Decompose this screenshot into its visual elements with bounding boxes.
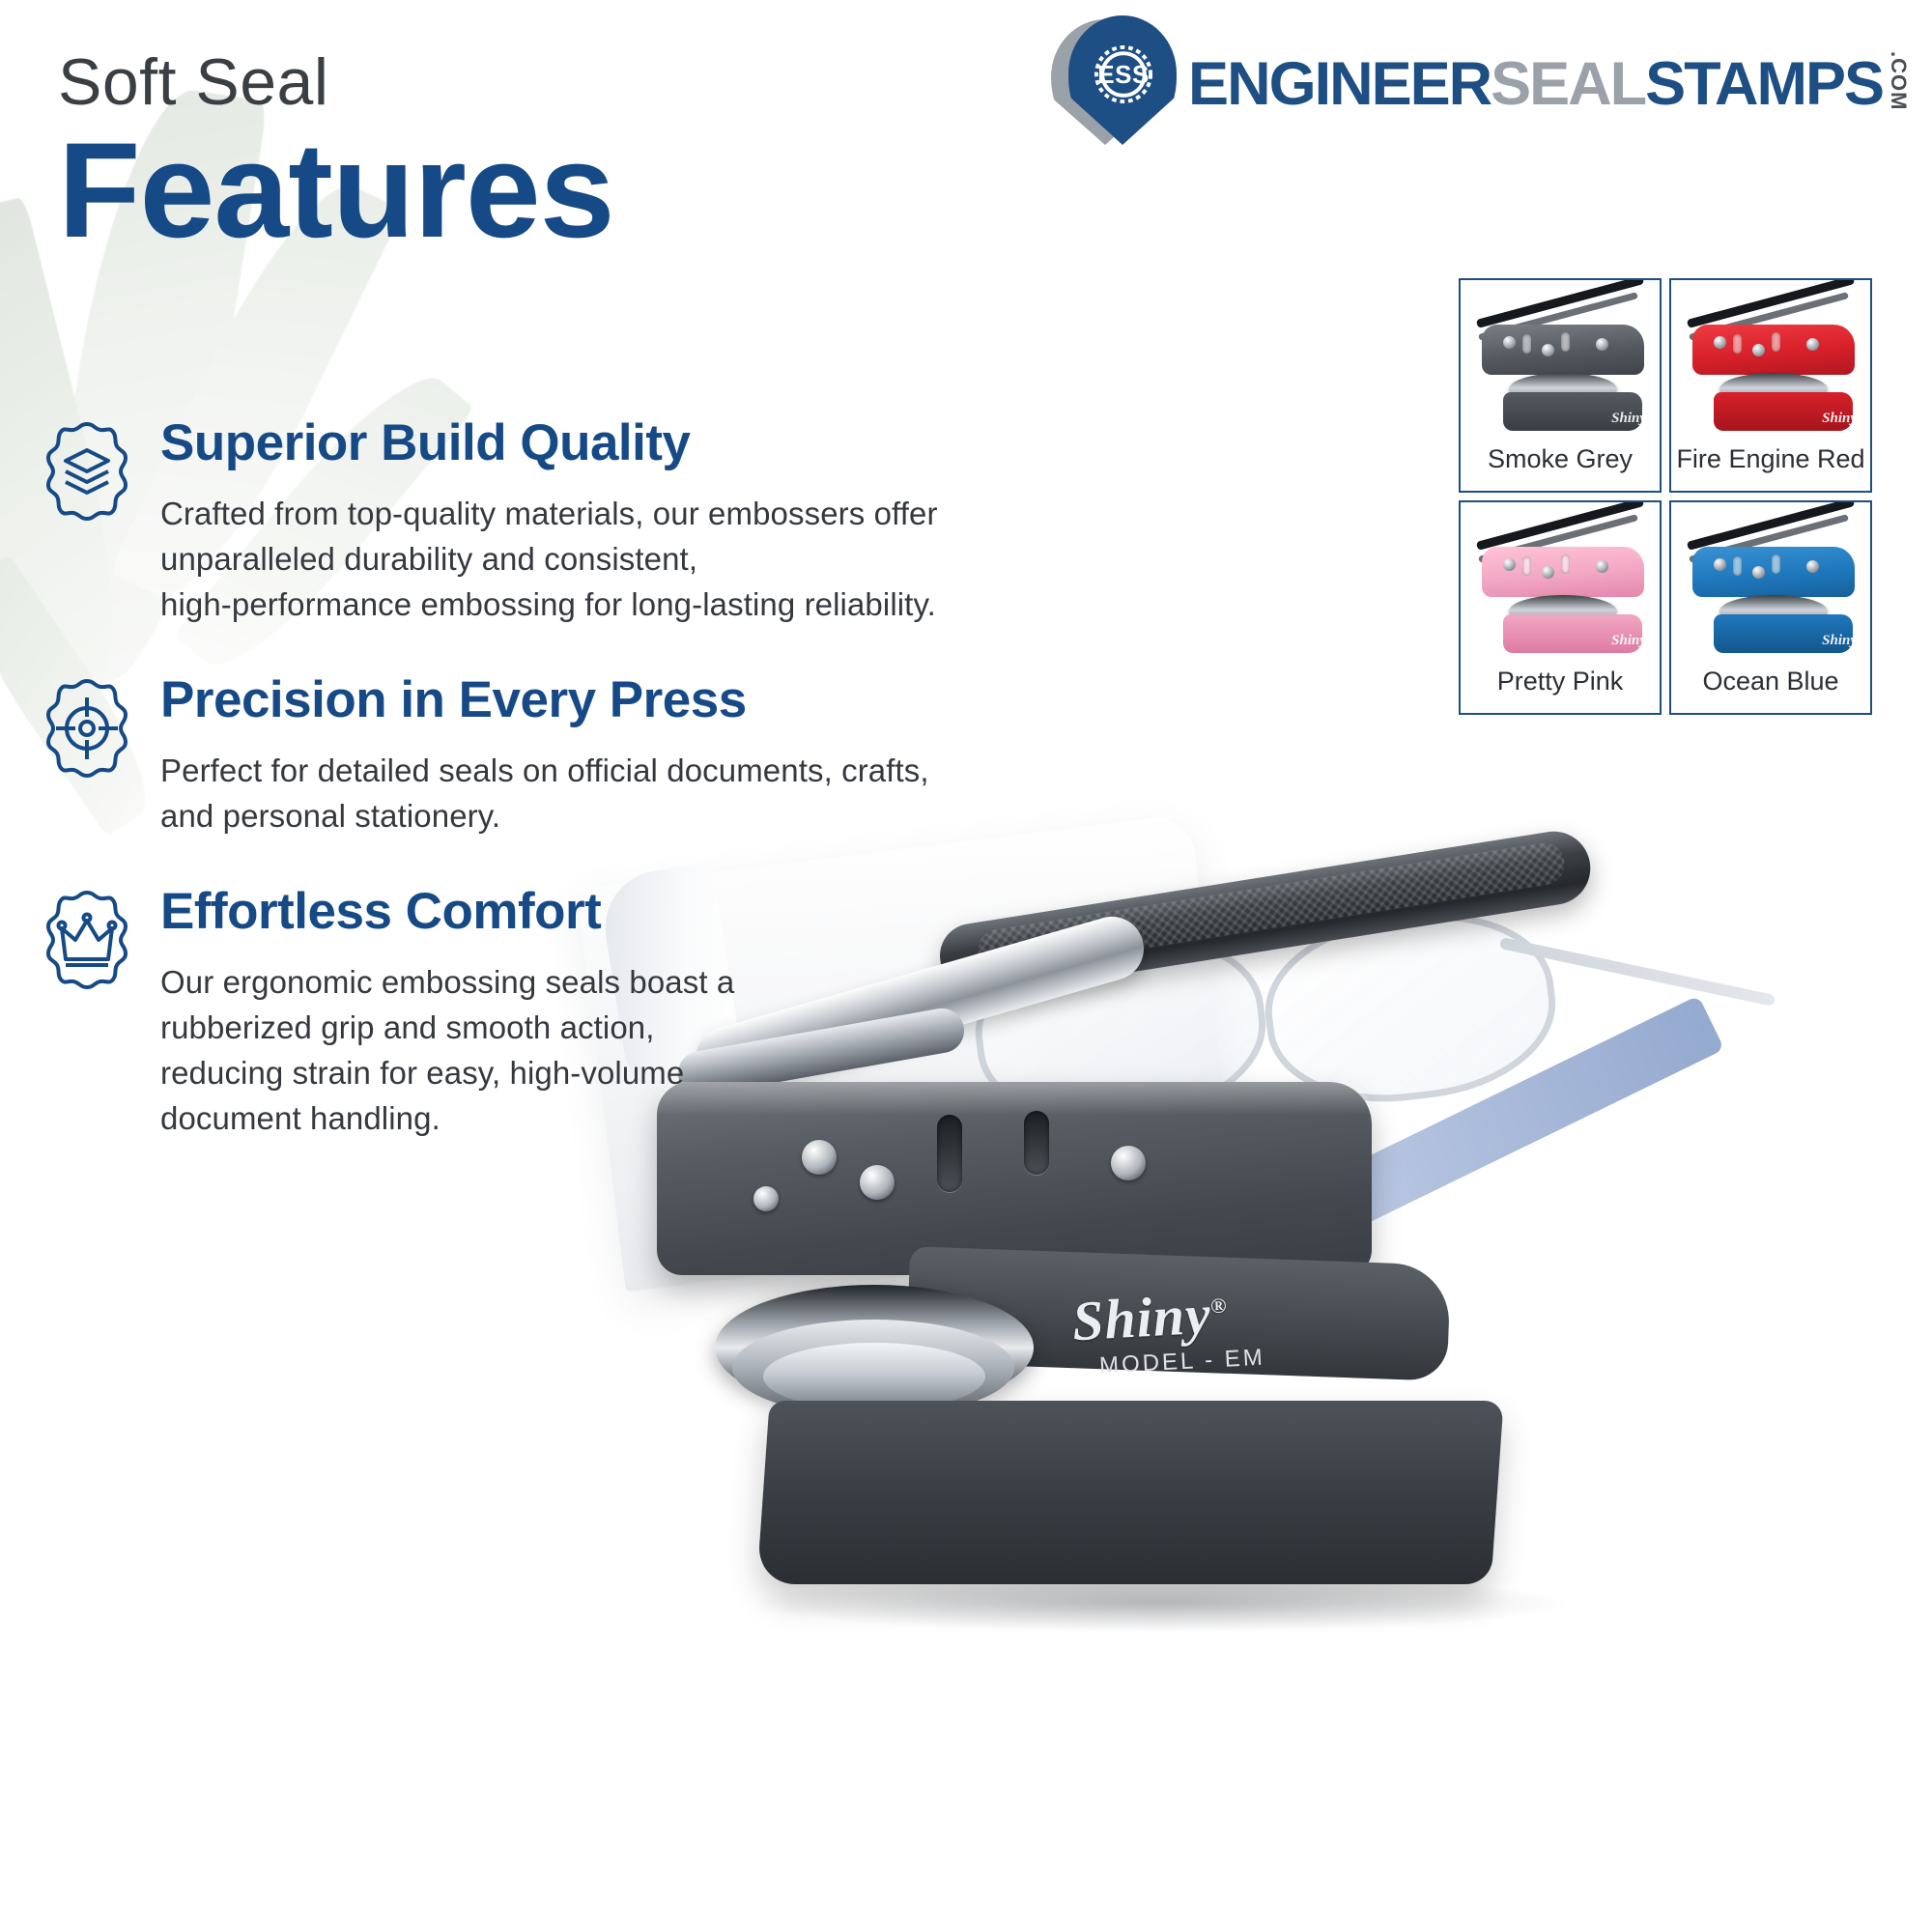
target-badge-icon xyxy=(39,672,155,783)
title-block: Soft Seal Features xyxy=(58,48,614,258)
feature-body: Precision in Every Press Perfect for det… xyxy=(155,672,1014,839)
logo-tld: .COM xyxy=(1886,51,1911,110)
feature-item: Superior Build Quality Crafted from top-… xyxy=(39,415,1014,628)
logo-word-seal: SEAL xyxy=(1491,57,1645,113)
feature-description: Our ergonomic embossing seals boast a ru… xyxy=(160,960,1014,1141)
product-brand-label: Shiny® xyxy=(1070,1281,1229,1353)
feature-title: Precision in Every Press xyxy=(160,672,1014,727)
brand-logo[interactable]: ESS ENGINEER SEAL STAMPS .COM xyxy=(1051,15,1911,149)
logo-mark-text: ESS xyxy=(1086,37,1161,112)
feature-list: Superior Build Quality Crafted from top-… xyxy=(39,415,1014,1185)
swatch-product-image: Shiny xyxy=(1671,502,1870,659)
crown-badge-icon xyxy=(39,884,155,995)
feature-item: Effortless Comfort Our ergonomic embossi… xyxy=(39,884,1014,1142)
logo-wordmark: ENGINEER SEAL STAMPS .COM xyxy=(1188,51,1911,112)
swatch-pretty-pink[interactable]: Shiny Pretty Pink xyxy=(1459,500,1662,715)
swatch-product-image: Shiny xyxy=(1461,502,1660,659)
logo-word-engineer: ENGINEER xyxy=(1188,57,1491,113)
swatch-ocean-blue[interactable]: Shiny Ocean Blue xyxy=(1669,500,1872,715)
feature-title: Superior Build Quality xyxy=(160,415,1014,470)
product-base xyxy=(756,1401,1503,1584)
swatch-label: Pretty Pink xyxy=(1461,659,1660,696)
feature-body: Superior Build Quality Crafted from top-… xyxy=(155,415,1014,628)
swatch-label: Fire Engine Red xyxy=(1671,437,1870,474)
layers-badge-icon xyxy=(39,415,155,526)
logo-word-stamps: STAMPS xyxy=(1645,57,1883,113)
feature-description: Crafted from top-quality materials, our … xyxy=(160,492,1014,628)
swatch-product-image: Shiny xyxy=(1671,280,1870,437)
feature-item: Precision in Every Press Perfect for det… xyxy=(39,672,1014,839)
page-title: Features xyxy=(58,123,614,258)
feature-description: Perfect for detailed seals on official d… xyxy=(160,749,1014,839)
swatch-fire-engine-red[interactable]: Shiny Fire Engine Red xyxy=(1669,278,1872,493)
feature-body: Effortless Comfort Our ergonomic embossi… xyxy=(155,884,1014,1142)
swatch-product-image: Shiny xyxy=(1461,280,1660,437)
swatch-smoke-grey[interactable]: Shiny Smoke Grey xyxy=(1459,278,1662,493)
logo-shield-icon: ESS xyxy=(1051,15,1179,149)
feature-title: Effortless Comfort xyxy=(160,884,1014,939)
color-swatch-grid: Shiny Smoke Grey Shiny Fire Engine Red xyxy=(1459,278,1872,715)
swatch-label: Smoke Grey xyxy=(1461,437,1660,474)
eyebrow-text: Soft Seal xyxy=(58,48,614,117)
swatch-label: Ocean Blue xyxy=(1671,659,1870,696)
